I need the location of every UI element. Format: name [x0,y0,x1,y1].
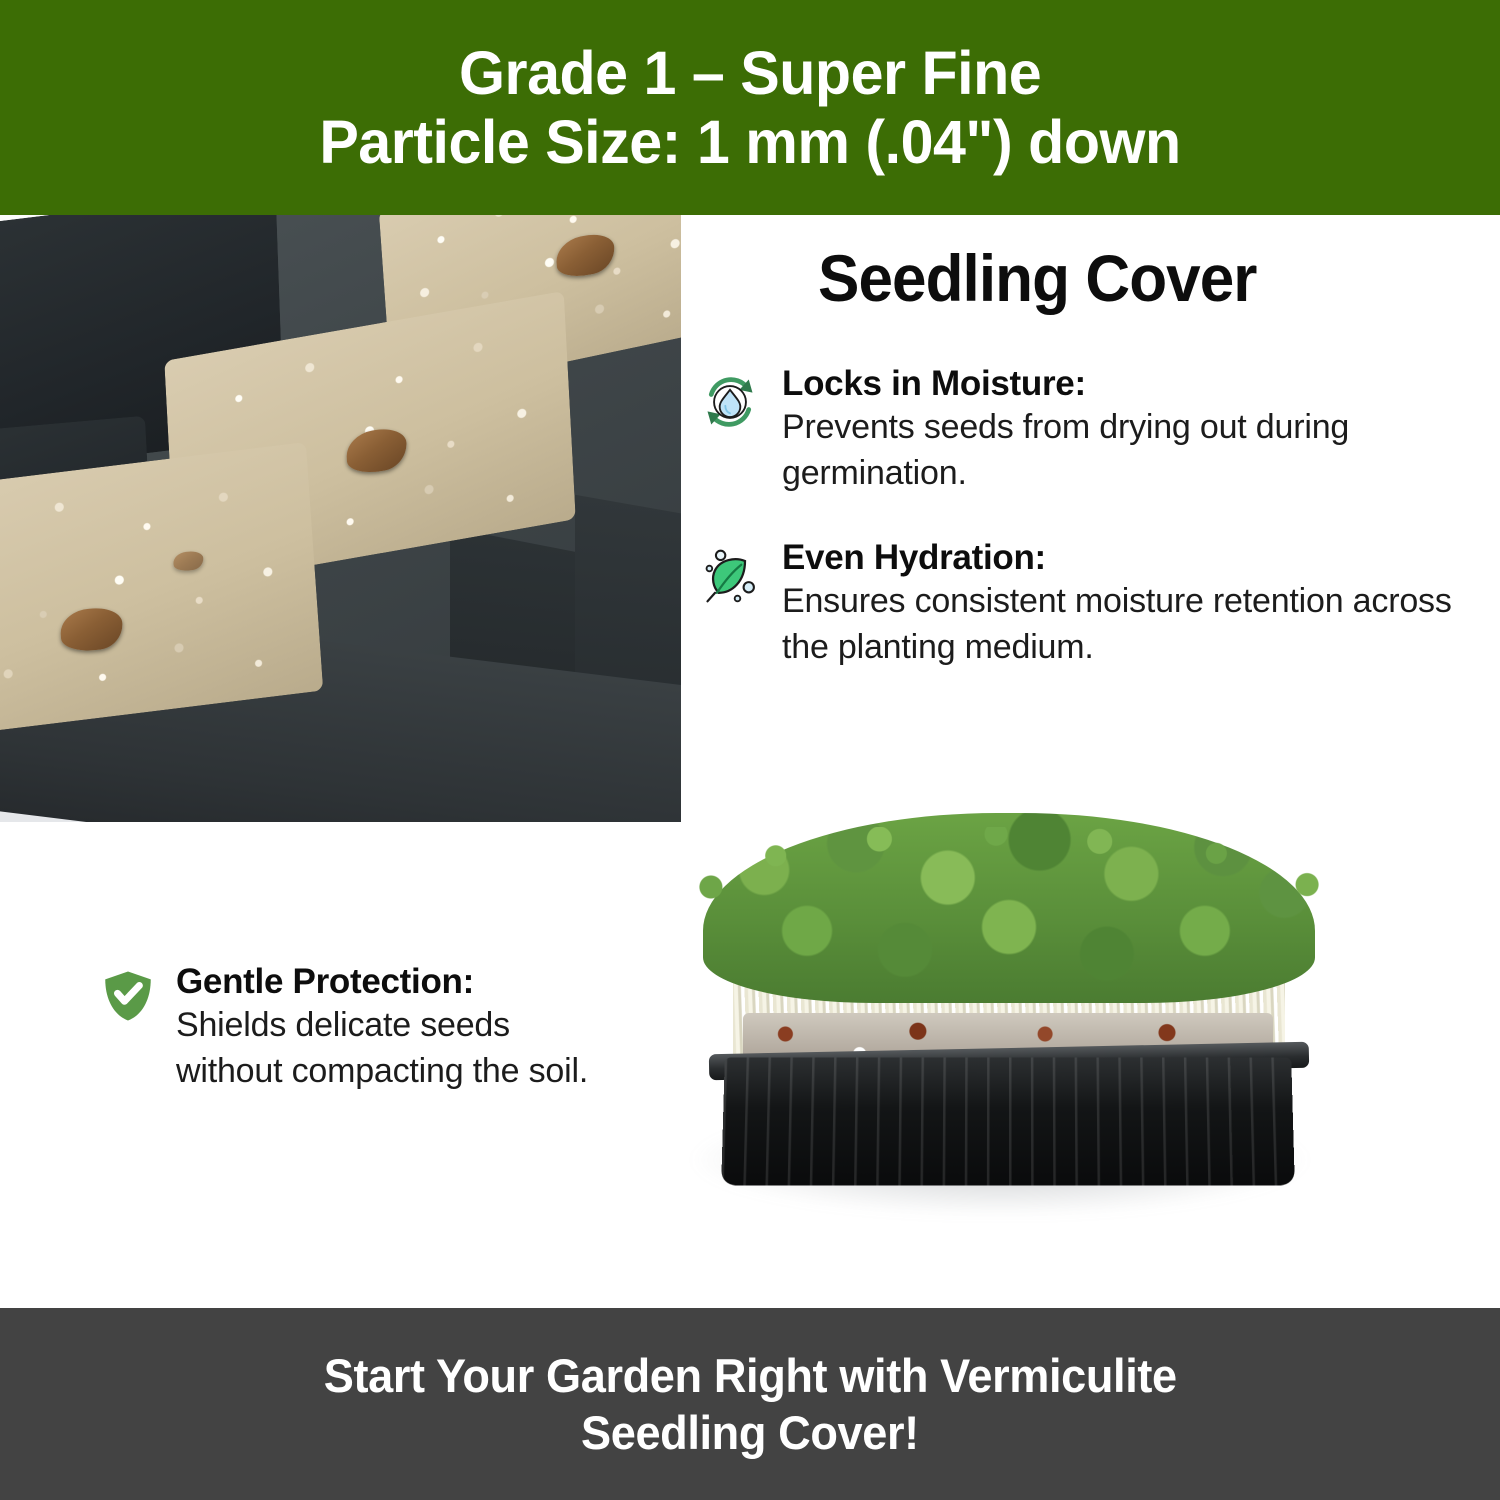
seed-tray-photo [0,215,681,822]
page-title: Seedling Cover [818,240,1450,316]
feature-body: Prevents seeds from drying out during ge… [782,404,1490,496]
black-growing-tray [721,1058,1295,1186]
feature-body: Ensures consistent moisture retention ac… [782,578,1490,670]
tray-cell-vermiculite-front [0,442,323,738]
feature-locks-in-moisture: Locks in Moisture: Prevents seeds from d… [700,364,1490,496]
microgreens-photo [655,805,1345,1255]
top-banner-line-2: Particle Size: 1 mm (.04") down [319,108,1180,177]
feature-title: Locks in Moisture: [782,364,1490,404]
shield-check-icon [100,968,156,1024]
feature-column-right: Seedling Cover Locks in Moisture: Preven… [700,240,1490,671]
top-banner-line-1: Grade 1 – Super Fine [459,39,1041,108]
feature-title: Even Hydration: [782,538,1490,578]
feature-even-hydration: Even Hydration: Ensures consistent moist… [700,538,1490,670]
bottom-banner-line-1: Start Your Garden Right with Vermiculite [324,1347,1177,1404]
feature-body: Shields delicate seeds without compactin… [176,1002,610,1094]
feature-gentle-protection: Gentle Protection: Shields delicate seed… [100,962,610,1094]
leaf-hydration-icon [700,546,760,606]
top-banner: Grade 1 – Super Fine Particle Size: 1 mm… [0,0,1500,215]
moisture-cycle-icon [700,372,760,432]
feature-title: Gentle Protection: [176,962,610,1002]
microgreen-canopy [703,813,1315,1003]
bottom-banner-line-2: Seedling Cover! [581,1404,919,1461]
bottom-banner: Start Your Garden Right with Vermiculite… [0,1308,1500,1500]
